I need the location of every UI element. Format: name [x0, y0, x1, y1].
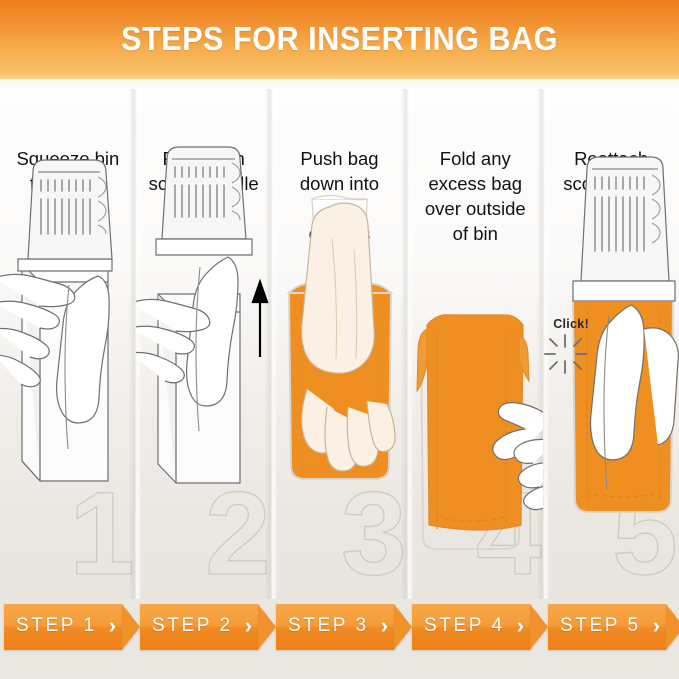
illustration-step-2	[136, 89, 272, 599]
chevron-right-icon: ›	[245, 613, 252, 639]
banner-arrow-tip	[530, 604, 548, 650]
step-banner-label: STEP 5	[560, 615, 641, 637]
step-banner-row: STEP 1 › STEP 2 › STEP 3 › STEP 4 › STEP…	[0, 604, 679, 654]
illustration-step-1	[0, 89, 136, 599]
steps-row: 1 2 3 4 5 Squeeze bin to detach scoop Pu…	[0, 89, 679, 599]
step-banner-1[interactable]: STEP 1 ›	[4, 604, 122, 650]
illustration-step-4	[407, 89, 543, 599]
step-banner-label: STEP 3	[288, 615, 369, 637]
illustration-step-3	[272, 89, 408, 599]
banner-arrow-tip	[122, 604, 140, 650]
click-annotation: Click!	[553, 317, 589, 331]
instruction-graphic: STEPS FOR INSERTING BAG 1 2 3 4 5 Squeez…	[0, 0, 679, 679]
step-banner-label: STEP 2	[152, 615, 233, 637]
step-banner-label: STEP 4	[424, 615, 505, 637]
banner-arrow-tip	[666, 604, 679, 650]
chevron-right-icon: ›	[109, 613, 116, 639]
header-banner: STEPS FOR INSERTING BAG	[0, 0, 679, 79]
header-fade	[0, 79, 679, 89]
illustration-step-5: Click!	[543, 89, 679, 599]
step-banner-5[interactable]: STEP 5 ›	[548, 604, 666, 650]
page-title: STEPS FOR INSERTING BAG	[24, 20, 655, 58]
step-banner-4[interactable]: STEP 4 ›	[412, 604, 530, 650]
chevron-right-icon: ›	[381, 613, 388, 639]
banner-arrow-tip	[394, 604, 412, 650]
step-banner-3[interactable]: STEP 3 ›	[276, 604, 394, 650]
step-banner-2[interactable]: STEP 2 ›	[140, 604, 258, 650]
chevron-right-icon: ›	[653, 613, 660, 639]
banner-arrow-tip	[258, 604, 276, 650]
step-banner-label: STEP 1	[16, 615, 97, 637]
chevron-right-icon: ›	[517, 613, 524, 639]
